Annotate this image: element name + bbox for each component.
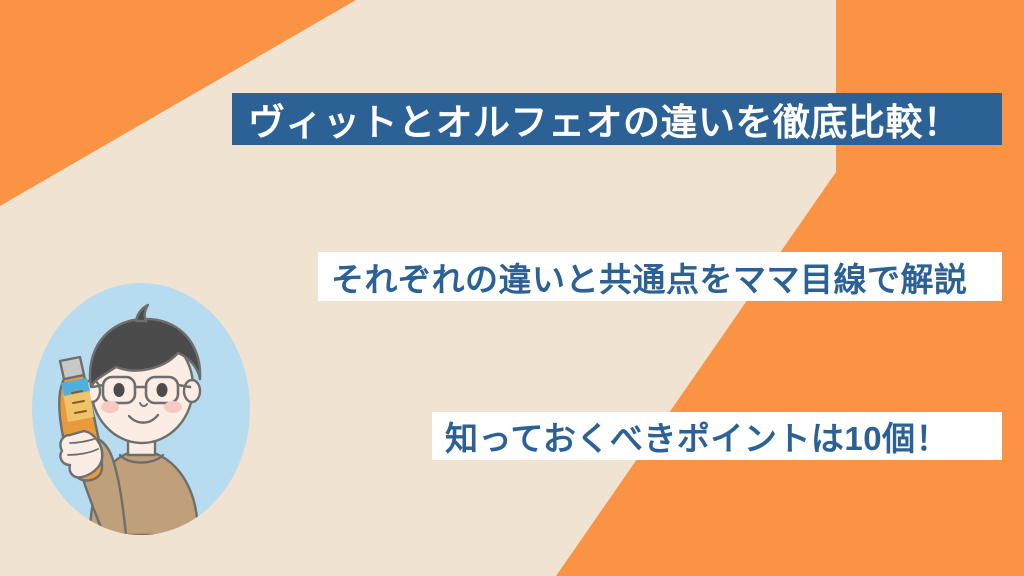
thumbnail-canvas: ヴィットとオルフェオの違いを徹底比較！ それぞれの違いと共通点をママ目線で解説 … xyxy=(0,0,1024,576)
subtitle-1-text: それぞれの違いと共通点をママ目線で解説 xyxy=(331,253,968,301)
eye-left xyxy=(114,383,125,397)
title-text: ヴィットとオルフェオの違いを徹底比較！ xyxy=(248,92,961,146)
eye-right xyxy=(157,383,168,397)
subtitle-band-1: それぞれの違いと共通点をママ目線で解説 xyxy=(318,252,1002,301)
cheek-left xyxy=(101,401,119,413)
avatar xyxy=(32,283,250,535)
cheek-right xyxy=(164,401,182,413)
bottle-cap xyxy=(60,357,84,379)
title-band: ヴィットとオルフェオの違いを徹底比較！ xyxy=(232,93,1002,145)
subtitle-band-2: 知っておくべきポイントは10個！ xyxy=(432,412,1002,460)
ear-right xyxy=(184,380,200,402)
subtitle-2-text: 知っておくべきポイントは10個！ xyxy=(445,412,949,460)
avatar-illustration xyxy=(32,283,250,535)
